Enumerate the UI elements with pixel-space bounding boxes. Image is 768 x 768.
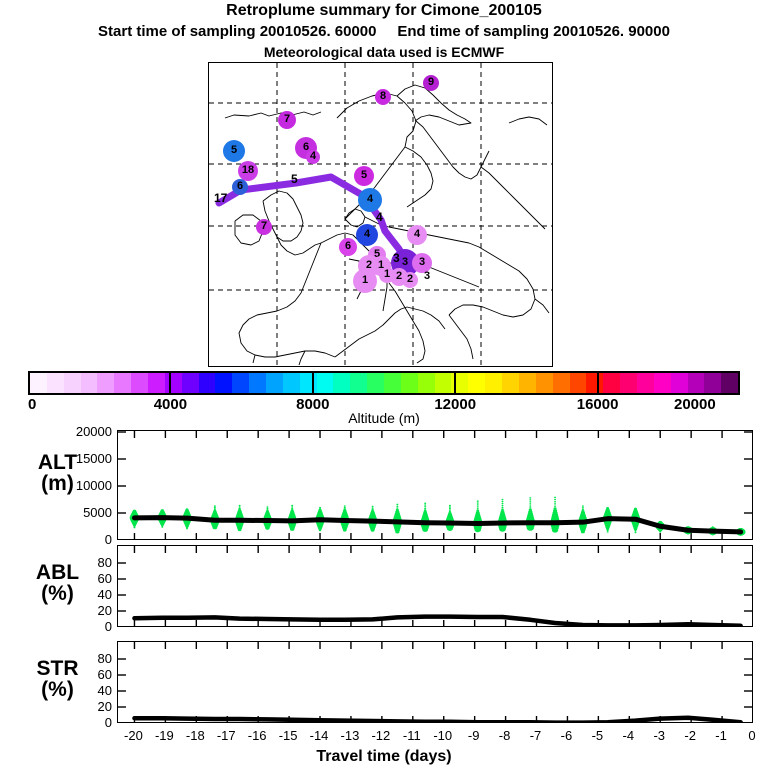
colorbar-swatch [654,373,671,393]
map-retroplume-marker: 4 [407,225,427,245]
alt-y-tick-label: 0 [50,532,112,547]
colorbar-swatch [603,373,620,393]
colorbar-swatch [131,373,148,393]
sampling-times: Start time of sampling 20010526. 60000 E… [0,23,768,40]
colorbar-swatch [81,373,98,393]
str-y-tick-label: 0 [50,715,112,730]
colorbar-swatch [620,373,637,393]
abl-y-tick-label: 20 [50,603,112,618]
colorbar-swatch [586,373,603,393]
colorbar-swatch [367,373,384,393]
alt-y-tick-label: 20000 [50,424,112,439]
map-retroplume-marker: 4 [306,150,320,164]
colorbar-swatch [64,373,81,393]
str-plot-svg [118,642,752,723]
map-retroplume-marker: 4 [356,224,378,246]
alt-scatter-cloud [130,497,746,536]
alt-y-tick-label: 5000 [50,505,112,520]
map-marker-label: 3 [419,257,425,268]
map-marker-label: 6 [237,181,243,192]
map-marker-label: 4 [414,229,420,240]
map-marker-label: 9 [428,77,434,88]
str-y-tick-label: 80 [50,651,112,666]
colorbar-swatch [435,373,452,393]
x-tick-label: 0 [732,728,768,743]
map-marker-label: 7 [261,221,267,232]
colorbar-swatch [215,373,232,393]
colorbar-swatch [148,373,165,393]
colorbar-swatch [418,373,435,393]
colorbar-swatch [384,373,401,393]
abl-y-tick-label: 80 [50,555,112,570]
map-marker-label: 1 [362,275,368,286]
map-retroplume-marker: 5 [354,166,374,186]
trajectory-waypoint-label: 17 [214,191,227,205]
colorbar-swatch [232,373,249,393]
colorbar-swatch [671,373,688,393]
map-marker-label: 7 [284,114,290,125]
str-y-tick-label: 20 [50,699,112,714]
colorbar-swatch [519,373,536,393]
alt-mean-line [134,518,740,532]
colorbar-swatch [468,373,485,393]
abl-plot-svg [118,546,752,627]
colorbar-swatch [637,373,654,393]
map-retroplume-marker: 6 [232,179,248,195]
map-retroplume-marker: 6 [339,238,357,256]
trajectory-waypoint-label: 5 [291,172,298,186]
trajectory-waypoint-label: 4 [376,210,383,224]
colorbar-swatch [502,373,519,393]
str-y-tick-label: 40 [50,683,112,698]
alt-plot-svg [118,431,752,540]
alt-panel [117,430,753,540]
colorbar-swatch [536,373,553,393]
colorbar-swatch [704,373,721,393]
retroplume-map: 9875641856474465213312213 17543 [208,62,553,367]
map-retroplume-marker: 1 [353,269,377,293]
colorbar-swatch [401,373,418,393]
map-retroplume-marker: 7 [256,219,272,235]
colorbar-swatch [350,373,367,393]
map-marker-label: 3 [424,270,430,282]
map-marker-label: 4 [367,194,373,205]
map-retroplume-marker: 9 [423,75,439,91]
colorbar-swatch [570,373,587,393]
abl-y-tick-label: 40 [50,587,112,602]
map-marker-label: 18 [242,165,254,176]
map-marker-label: 4 [364,229,370,240]
met-data-caption: Meteorological data used is ECMWF [0,44,768,60]
str-mean-line [134,718,740,723]
str-panel [117,641,753,723]
map-retroplume-marker: 4 [358,188,382,212]
colorbar-swatch [249,373,266,393]
map-retroplume-marker: 2 [402,272,418,288]
colorbar-swatch [317,373,334,393]
map-marker-label: 8 [380,91,386,102]
abl-y-tick-label: 0 [50,619,112,634]
abl-mean-line [134,617,740,626]
alt-y-tick-label: 15000 [50,451,112,466]
colorbar-swatch [721,373,738,393]
colorbar-swatch [182,373,199,393]
alt-y-tick-label: 10000 [50,478,112,493]
map-marker-label: 6 [345,241,351,252]
map-retroplume-marker: 5 [223,140,245,162]
colorbar-swatch [266,373,283,393]
str-y-tick-label: 60 [50,667,112,682]
map-marker-label: 2 [407,274,413,285]
colorbar-divider [597,371,599,395]
colorbar-swatch [199,373,216,393]
map-retroplume-marker: 7 [278,111,296,129]
map-marker-label: 5 [231,145,237,156]
map-marker-label: 5 [361,170,367,181]
map-retroplume-marker: 18 [238,161,258,181]
colorbar-swatch [97,373,114,393]
colorbar-swatch [485,373,502,393]
map-marker-label: 3 [402,257,408,268]
colorbar-swatch [114,373,131,393]
colorbar-swatch [283,373,300,393]
colorbar-swatch [47,373,64,393]
colorbar-swatch [30,373,47,393]
colorbar-label: Altitude (m) [0,410,768,426]
colorbar-divider [169,371,171,395]
colorbar-swatch [688,373,705,393]
colorbar-swatch [165,373,182,393]
map-retroplume-marker: 8 [375,89,391,105]
colorbar-divider [454,371,456,395]
abl-panel [117,545,753,627]
colorbar-swatch [553,373,570,393]
page-title: Retroplume summary for Cimone_200105 [0,2,768,20]
colorbar-divider [312,371,314,395]
colorbar-swatch [333,373,350,393]
x-axis-title: Travel time (days) [0,748,768,766]
altitude-colorbar [28,371,740,395]
trajectory-waypoint-label: 3 [393,251,400,265]
abl-y-tick-label: 60 [50,571,112,586]
colorbar-swatch [300,373,317,393]
map-marker-label: 4 [310,151,316,162]
